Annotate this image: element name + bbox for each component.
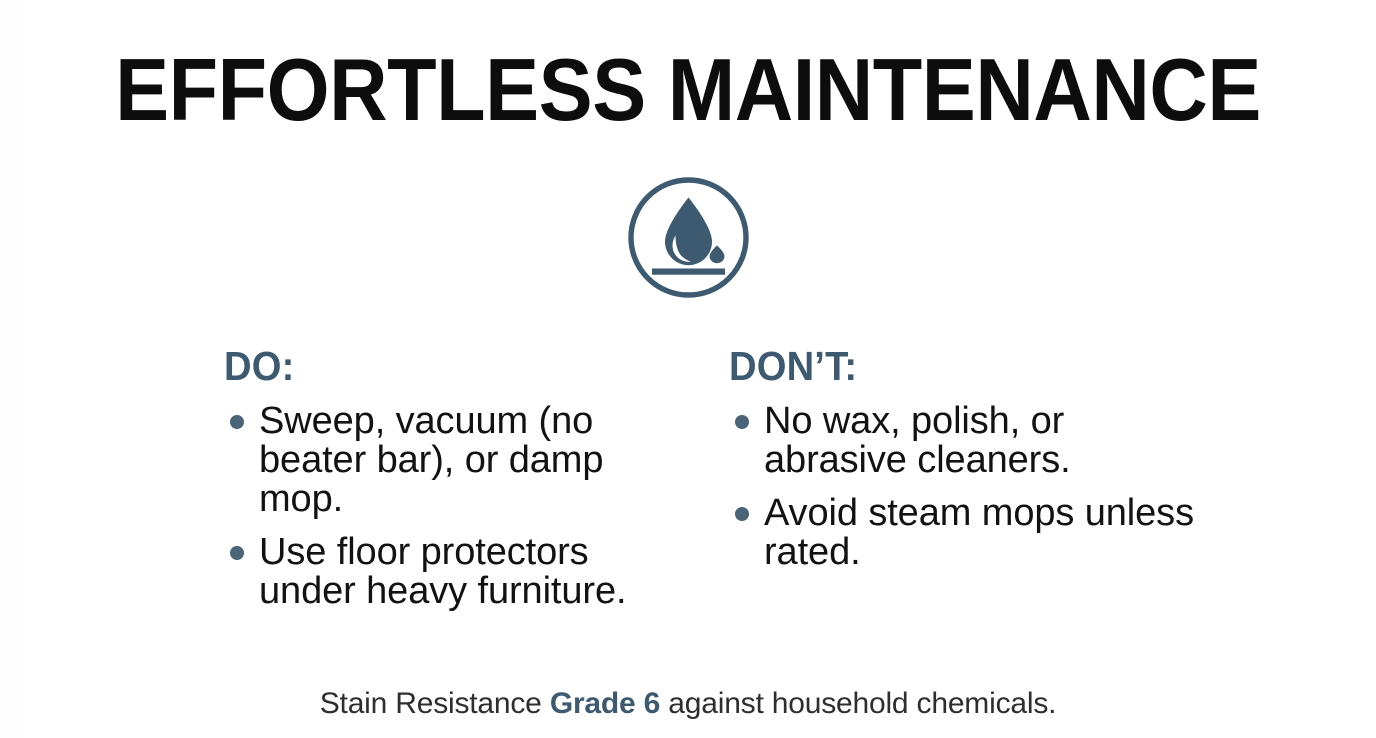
bullet-dot-icon — [230, 546, 244, 560]
footer-grade-highlight: Grade 6 — [550, 687, 660, 720]
water-droplet-on-surface-icon — [628, 177, 749, 298]
list-item-label: Use floor protectors under heavy furnitu… — [259, 531, 626, 612]
column-do: DO: Sweep, vacuum (no beater bar), or da… — [224, 344, 694, 611]
column-dont: DON’T: No wax, polish, or abrasive clean… — [729, 344, 1199, 572]
page-title: EFFORTLESS MAINTENANCE — [55, 46, 1321, 134]
list-item-label: No wax, polish, or abrasive cleaners. — [764, 400, 1071, 481]
list-item: No wax, polish, or abrasive cleaners. — [729, 402, 1199, 480]
footer-text-before: Stain Resistance — [320, 687, 550, 720]
column-do-heading: DO: — [224, 344, 661, 388]
bullet-dot-icon — [735, 415, 749, 429]
column-dont-list: No wax, polish, or abrasive cleaners. Av… — [729, 402, 1199, 572]
list-item: Sweep, vacuum (no beater bar), or damp m… — [224, 402, 694, 519]
column-do-list: Sweep, vacuum (no beater bar), or damp m… — [224, 402, 694, 611]
bullet-dot-icon — [230, 415, 244, 429]
slide-root: EFFORTLESS MAINTENANCE DO: Sweep, vacuum… — [0, 0, 1376, 738]
bullet-dot-icon — [735, 507, 749, 521]
list-item-label: Sweep, vacuum (no beater bar), or damp m… — [259, 400, 603, 520]
do-dont-columns: DO: Sweep, vacuum (no beater bar), or da… — [0, 344, 1376, 604]
footer-note: Stain Resistance Grade 6 against househo… — [0, 684, 1376, 724]
footer-text-after: against household chemicals. — [660, 687, 1056, 720]
list-item: Avoid steam mops unless rated. — [729, 494, 1199, 572]
list-item-label: Avoid steam mops unless rated. — [764, 492, 1194, 573]
column-dont-heading: DON’T: — [729, 344, 1166, 388]
list-item: Use floor protectors under heavy furnitu… — [224, 533, 694, 611]
